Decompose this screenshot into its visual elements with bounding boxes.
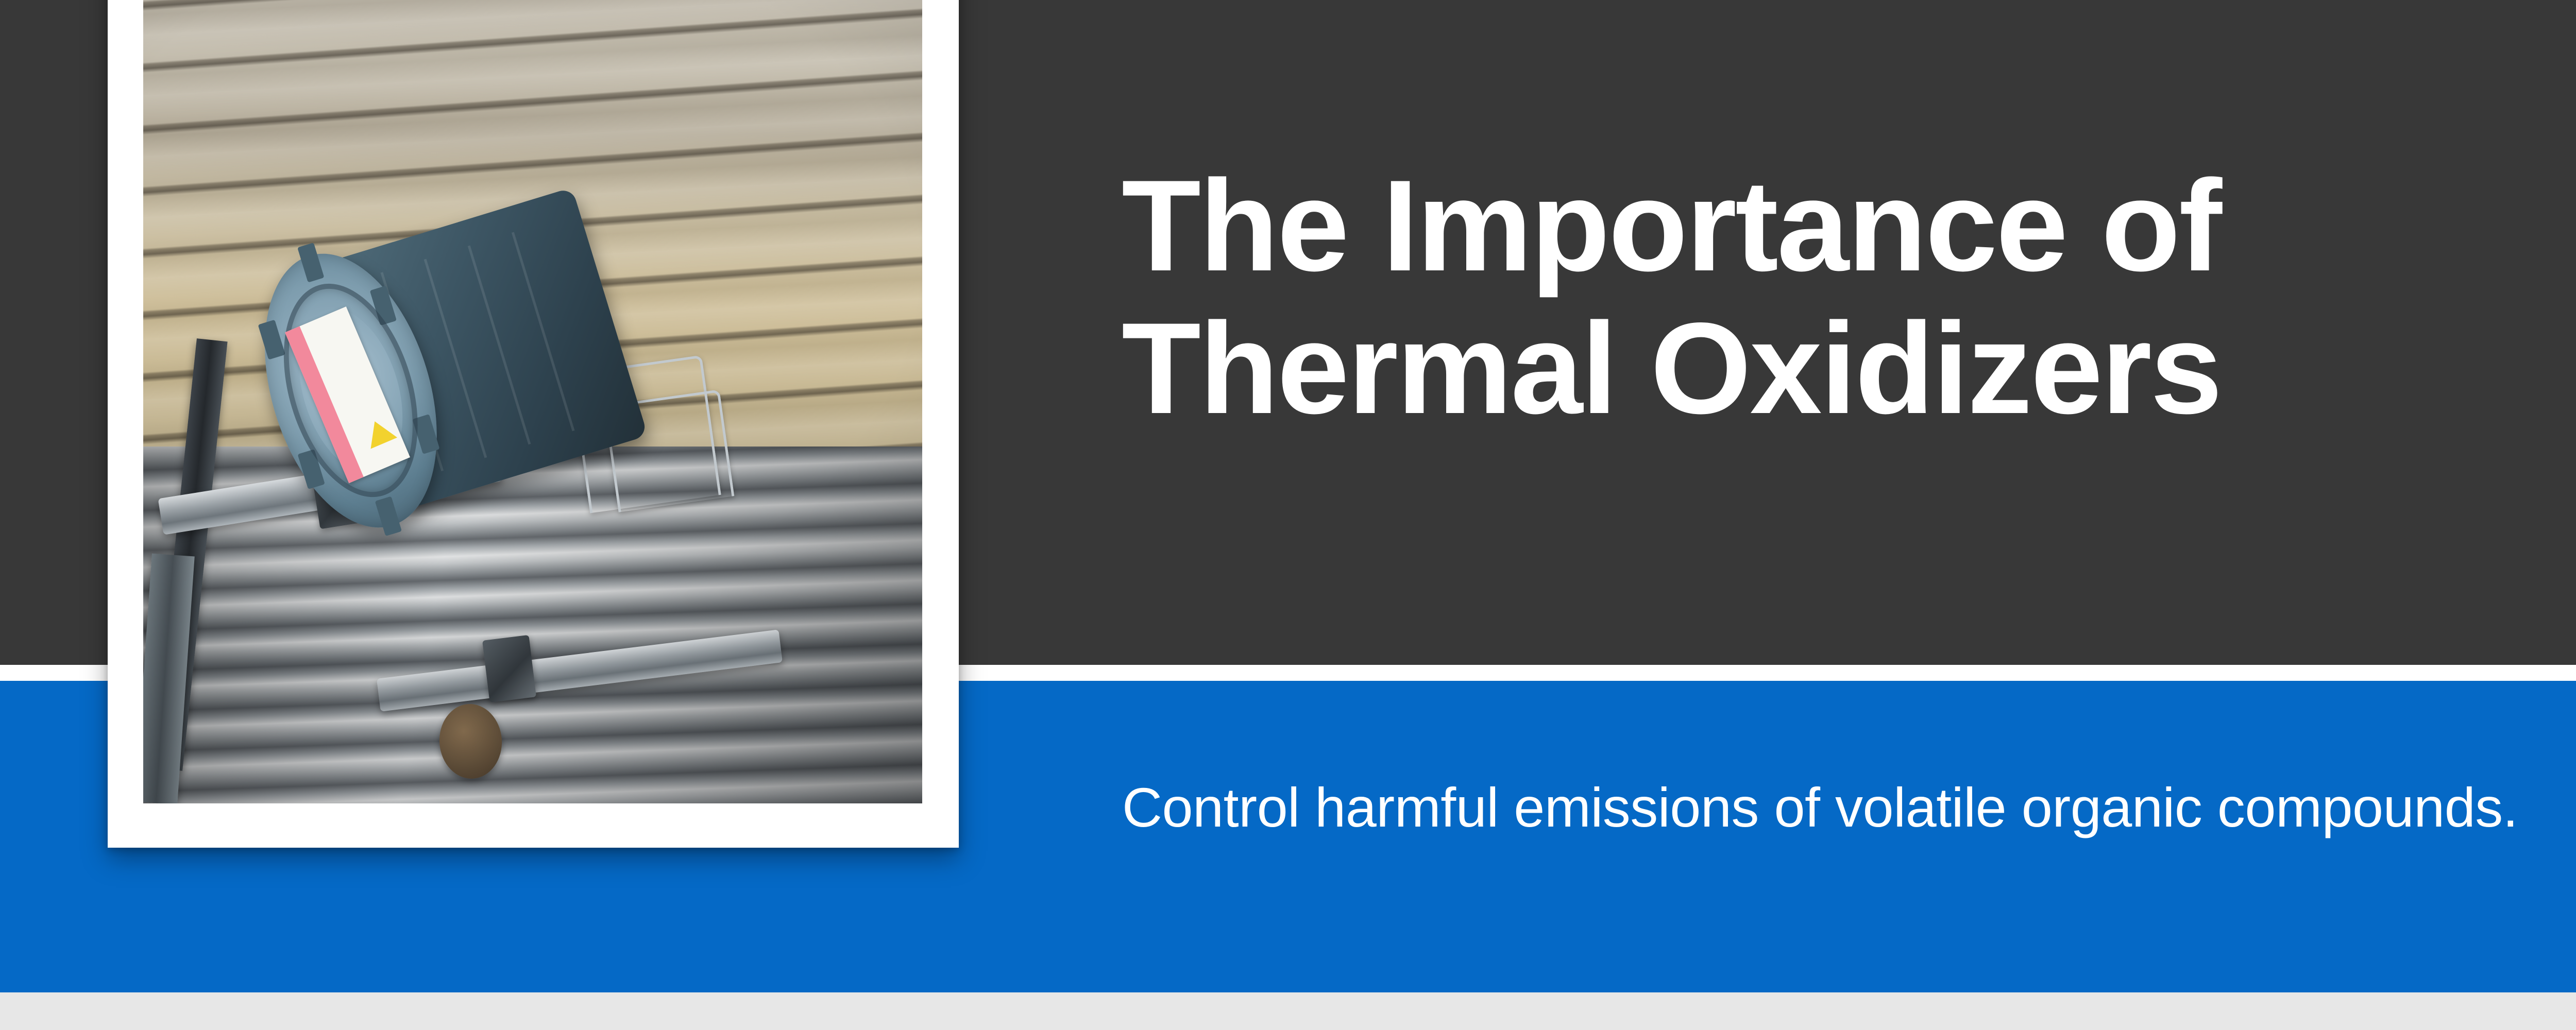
photo-vignette <box>143 0 922 803</box>
page-subtitle: Control harmful emissions of volatile or… <box>1122 772 2576 842</box>
hero-photo-card <box>108 0 959 848</box>
page-title: The Importance of Thermal Oxidizers <box>1122 154 2410 440</box>
page-title-line-1: The Importance of <box>1122 154 2410 297</box>
hero-photo <box>143 0 922 803</box>
footer-band <box>0 992 2576 1030</box>
page-title-line-2: Thermal Oxidizers <box>1122 297 2410 440</box>
banner-page: The Importance of Thermal Oxidizers Cont… <box>0 0 2576 1030</box>
